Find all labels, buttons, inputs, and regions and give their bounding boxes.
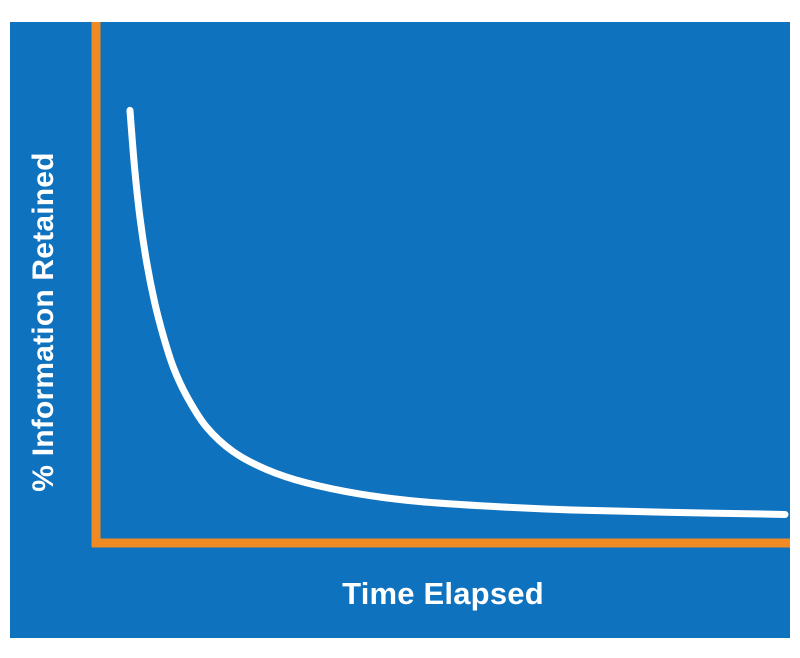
- plot-panel: % Information Retained Time Elapsed: [10, 22, 790, 638]
- chart-root: % Information Retained Time Elapsed: [0, 0, 800, 658]
- plot-svg: [10, 22, 790, 638]
- retention-decay-curve: [130, 110, 785, 514]
